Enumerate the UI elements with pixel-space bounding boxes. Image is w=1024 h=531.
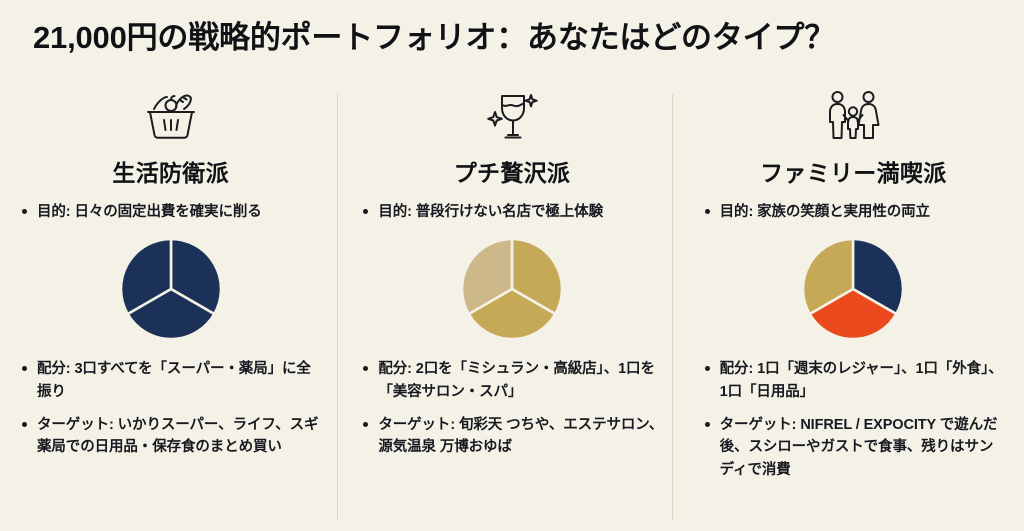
column-heading: 生活防衛派 bbox=[112, 160, 229, 188]
details-list: 配分: 2口を「ミシュラン・高級店」、1口を「美容サロン・スパ」 ターゲット: … bbox=[359, 358, 664, 459]
details-list: 配分: 1口「週末のレジャー」、1口「外食」、1口「日用品」 ターゲット: NI… bbox=[701, 358, 1006, 481]
bullet-allocation: 配分: 2口を「ミシュラン・高級店」、1口を「美容サロン・スパ」 bbox=[359, 358, 664, 403]
bullet-purpose: 目的: 家族の笑顔と実用性の両立 bbox=[701, 201, 1006, 223]
pie-chart-wrap bbox=[460, 237, 564, 341]
columns-container: 生活防衛派 目的: 日々の固定出費を確実に削る 配分: 3口すべてを「スーパー・… bbox=[0, 80, 1024, 531]
wine-glass-sparkle-icon bbox=[484, 88, 540, 146]
family-icon bbox=[822, 88, 884, 146]
pie-chart bbox=[119, 237, 223, 341]
bullet-allocation: 配分: 3口すべてを「スーパー・薬局」に全振り bbox=[18, 358, 323, 403]
bullet-target: ターゲット: いかりスーパー、ライフ、スギ薬局での日用品・保存食のまとめ買い bbox=[18, 414, 323, 459]
bullet-target: ターゲット: 旬彩天 つちや、エステサロン、源気温泉 万博おゆば bbox=[359, 414, 664, 459]
pie-chart-wrap bbox=[119, 237, 223, 341]
column-heading: プチ贅沢派 bbox=[454, 160, 571, 188]
pie-chart bbox=[801, 237, 905, 341]
pie-chart-wrap bbox=[801, 237, 905, 341]
title-bar: 21,000円の戦略的ポートフォリオ：あなたはどのタイプ？ bbox=[0, 0, 1024, 76]
purpose-list: 目的: 日々の固定出費を確実に削る bbox=[18, 201, 323, 223]
details-list: 配分: 3口すべてを「スーパー・薬局」に全振り ターゲット: いかりスーパー、ラ… bbox=[18, 358, 323, 459]
slide-root: 21,000円の戦略的ポートフォリオ：あなたはどのタイプ？ bbox=[0, 0, 1024, 531]
column-family-mankitsuha: ファミリー満喫派 目的: 家族の笑顔と実用性の両立 配分: 1口「週末のレジャー… bbox=[683, 80, 1024, 531]
page-title: 21,000円の戦略的ポートフォリオ：あなたはどのタイプ？ bbox=[0, 21, 835, 55]
shopping-basket-icon bbox=[140, 88, 202, 146]
pie-chart bbox=[460, 237, 564, 341]
purpose-list: 目的: 普段行けない名店で極上体験 bbox=[359, 201, 664, 223]
bullet-purpose: 目的: 日々の固定出費を確実に削る bbox=[18, 201, 323, 223]
bullet-allocation: 配分: 1口「週末のレジャー」、1口「外食」、1口「日用品」 bbox=[701, 358, 1006, 403]
column-heading: ファミリー満喫派 bbox=[760, 160, 946, 188]
bullet-target: ターゲット: NIFREL / EXPOCITY で遊んだ後、スシローやガストで… bbox=[701, 414, 1006, 481]
column-seikatsu-boeiha: 生活防衛派 目的: 日々の固定出費を確実に削る 配分: 3口すべてを「スーパー・… bbox=[0, 80, 341, 531]
purpose-list: 目的: 家族の笑顔と実用性の両立 bbox=[701, 201, 1006, 223]
bullet-purpose: 目的: 普段行けない名店で極上体験 bbox=[359, 201, 664, 223]
column-puchi-zeitakuha: プチ贅沢派 目的: 普段行けない名店で極上体験 配分: 2口を「ミシュラン・高級… bbox=[341, 80, 682, 531]
